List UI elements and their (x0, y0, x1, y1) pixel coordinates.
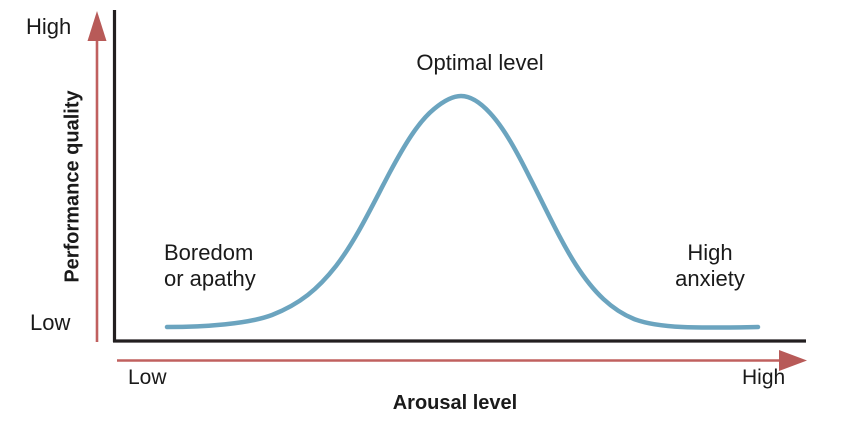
y-axis-arrow-icon (88, 11, 107, 41)
performance-curve (167, 96, 758, 328)
annotation-high-anxiety: High anxiety (648, 240, 772, 291)
x-axis-title: Arousal level (330, 392, 580, 415)
y-axis-high-label: High (26, 14, 71, 39)
yerkes-dodson-chart: High Low Performance quality Low High Ar… (0, 0, 851, 426)
annotation-boredom-or-apathy: Boredom or apathy (164, 240, 256, 291)
y-axis-low-label: Low (30, 310, 70, 335)
annotation-optimal-level: Optimal level (370, 50, 590, 76)
y-axis-title: Performance quality (62, 67, 85, 307)
x-axis-low-label: Low (128, 366, 167, 390)
x-axis-high-label: High (742, 366, 785, 390)
